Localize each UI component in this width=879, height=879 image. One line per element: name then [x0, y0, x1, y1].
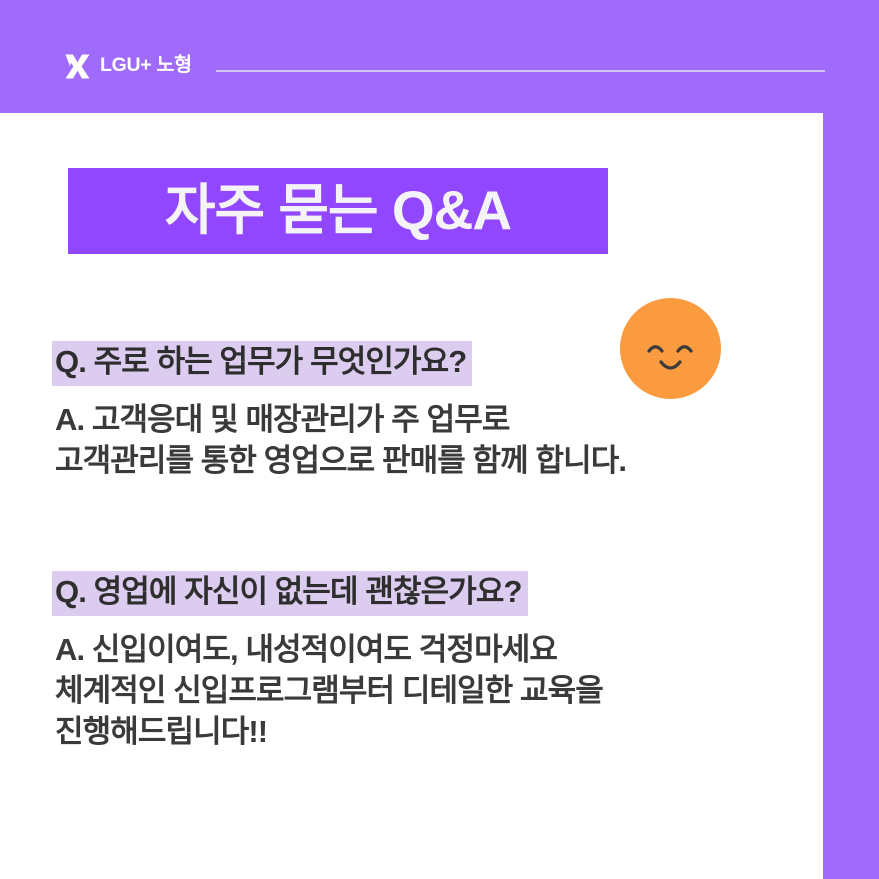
brand-name-label: LGU+ 노형 — [100, 56, 192, 76]
brand-lockup: LGU+ 노형 — [64, 52, 192, 80]
faq-answer-line: A. 고객응대 및 매장관리가 주 업무로 — [52, 399, 626, 440]
faq-answer-line: 고객관리를 통한 영업으로 판매를 함께 합니다. — [52, 440, 626, 481]
lgu-plus-bowtie-x-icon — [64, 54, 91, 79]
faq-answer: A. 신입이여도, 내성적이여도 걱정마세요 체계적인 신입프로그램부터 디테일… — [52, 629, 603, 753]
page-title: 자주 묻는 Q&A — [165, 183, 511, 238]
faq-question: Q. 영업에 자신이 없는데 괜찮은가요? — [52, 571, 528, 616]
faq-answer-line: 진행해드립니다!! — [52, 711, 603, 752]
faq-answer: A. 고객응대 및 매장관리가 주 업무로 고객관리를 통한 영업으로 판매를 … — [52, 399, 626, 481]
smiling-face-icon — [620, 298, 721, 399]
faq-item-2: Q. 영업에 자신이 없는데 괜찮은가요? A. 신입이여도, 내성적이여도 걱… — [52, 571, 603, 753]
faq-answer-line: A. 신입이여도, 내성적이여도 걱정마세요 — [52, 629, 603, 670]
page-header: LGU+ 노형 — [0, 0, 879, 113]
faq-answer-line: 체계적인 신입프로그램부터 디테일한 교육을 — [52, 670, 603, 711]
faq-item-1: Q. 주로 하는 업무가 무엇인가요? A. 고객응대 및 매장관리가 주 업무… — [52, 341, 626, 481]
faq-question: Q. 주로 하는 업무가 무엇인가요? — [52, 341, 472, 386]
faq-card-canvas: LGU+ 노형 자주 묻는 Q&A Q. 주로 하는 업무가 무엇인가요? A.… — [0, 0, 879, 879]
header-divider — [216, 70, 825, 72]
faq-title-banner: 자주 묻는 Q&A — [68, 168, 608, 254]
